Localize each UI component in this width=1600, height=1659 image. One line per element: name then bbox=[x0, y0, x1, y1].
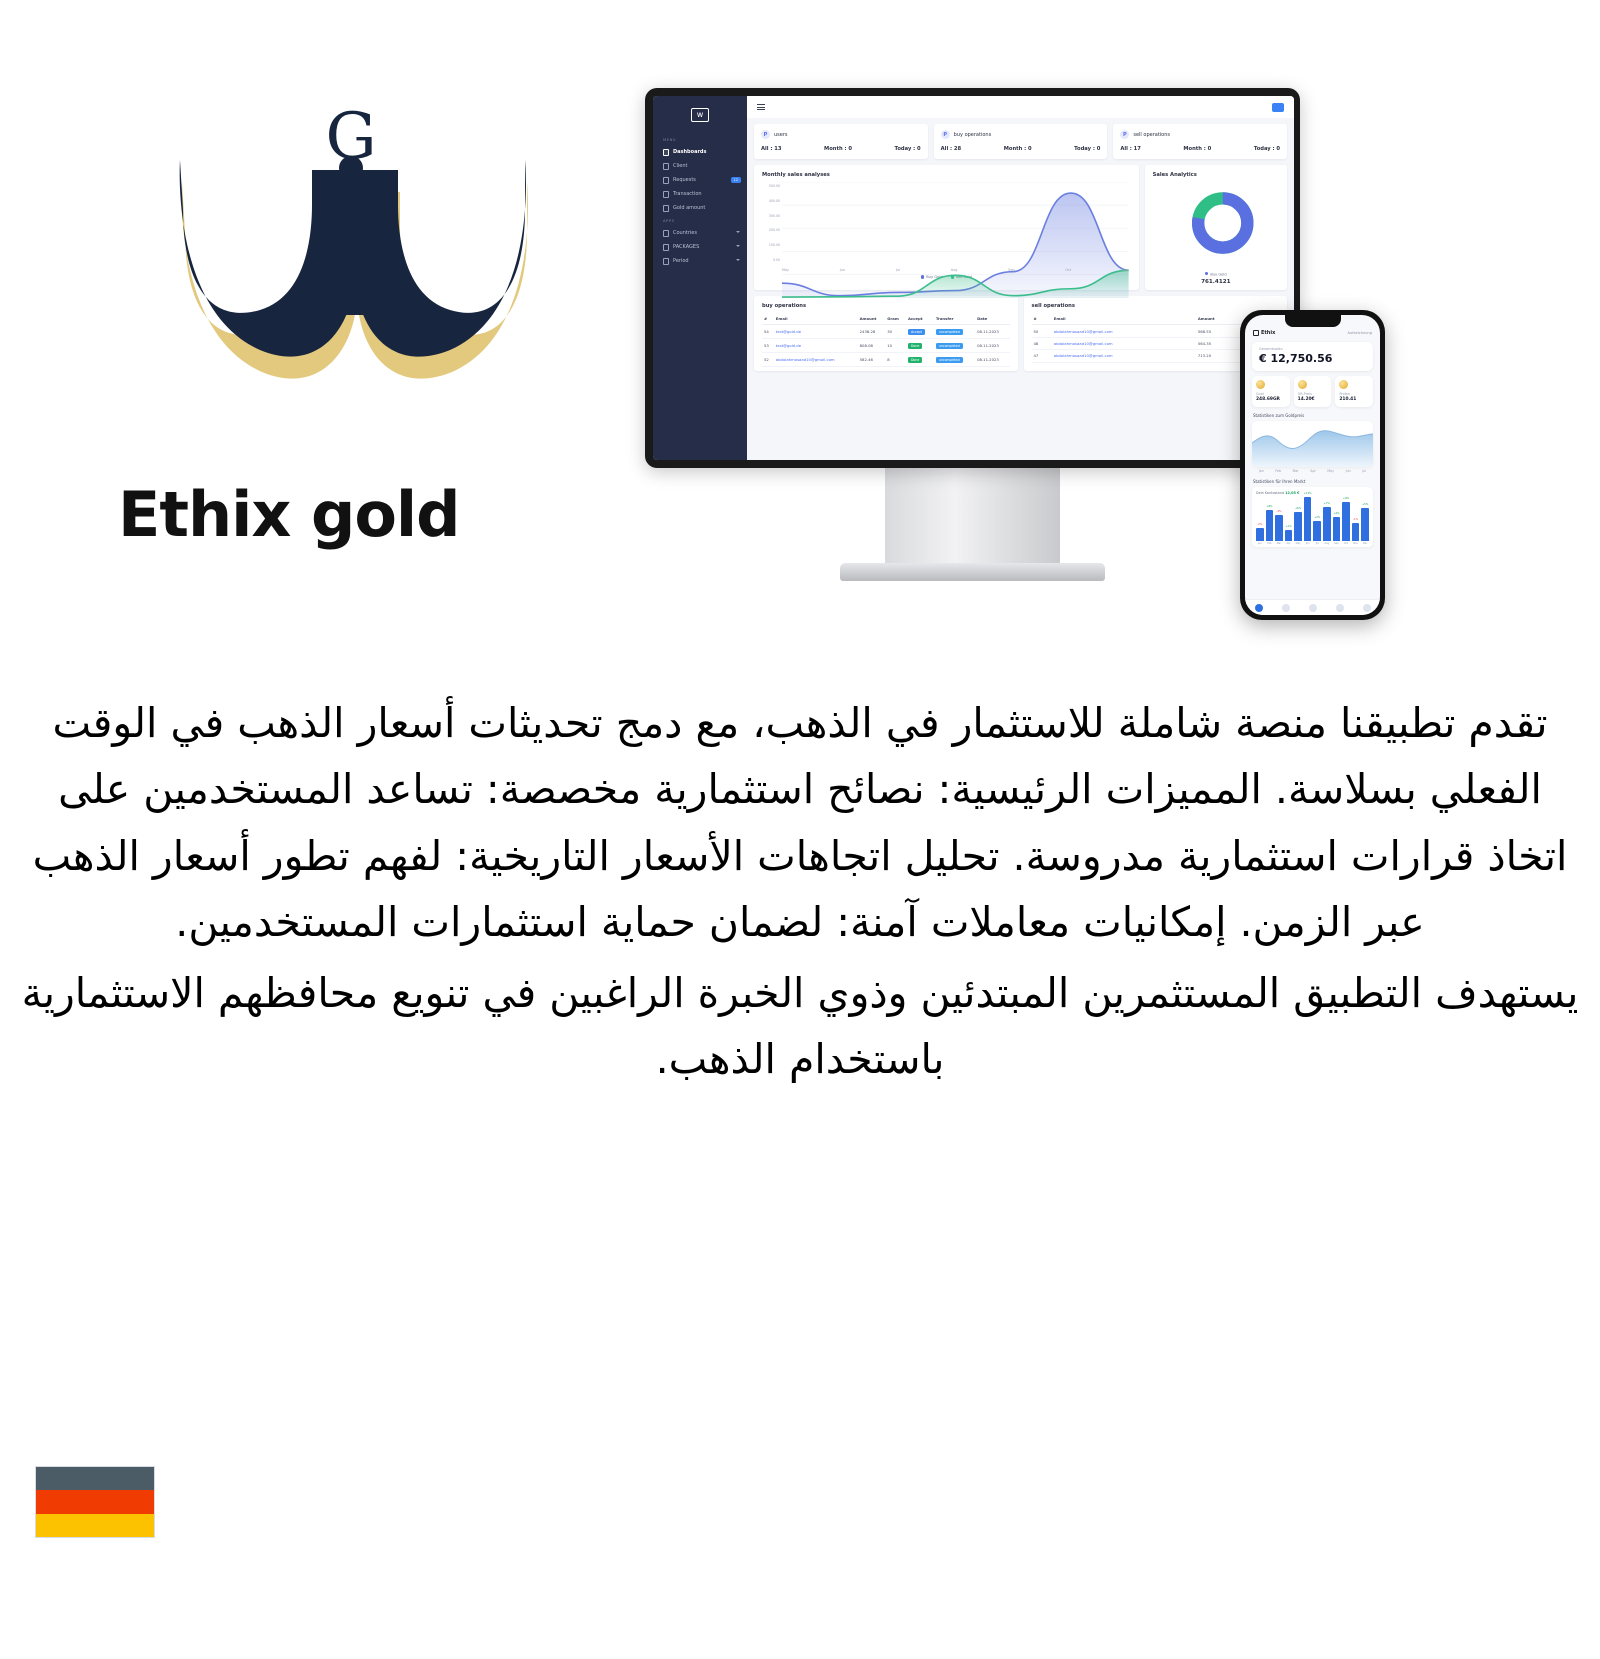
phone-bar-month: Dec bbox=[1361, 542, 1369, 545]
stat-card-users: P users All : 13 Month : 0 Today : 0 bbox=[754, 124, 928, 159]
sidebar-item-label: Period bbox=[673, 258, 689, 264]
transfer-status-badge[interactable]: uncompleted bbox=[936, 343, 963, 349]
cell-id: 52 bbox=[762, 353, 774, 367]
device-mockup: w MENU Dashboards Client Requests 12 bbox=[640, 80, 1440, 640]
cell-amount: 564.35 bbox=[1196, 337, 1244, 349]
phone-balance-chip: Dein Kontostand 12,05 € bbox=[1256, 491, 1369, 495]
cell-gram: 30 bbox=[885, 325, 906, 339]
sidebar-logo: w bbox=[691, 108, 709, 122]
sidebar-item-label: Client bbox=[673, 163, 687, 169]
cell-id: 47 bbox=[1032, 350, 1052, 362]
x-tick: May bbox=[782, 268, 789, 272]
phone-bar: +7% bbox=[1323, 507, 1331, 541]
chevron-down-icon bbox=[736, 231, 740, 233]
cell-date: 08.11.2023 bbox=[975, 339, 1009, 353]
requests-badge: 12 bbox=[731, 177, 741, 183]
mini-label: Profen bbox=[1339, 392, 1369, 396]
cell-amount: 808.08 bbox=[858, 339, 886, 353]
accept-status-badge[interactable]: Done bbox=[908, 357, 922, 363]
dashboard-body: P users All : 13 Month : 0 Today : 0 bbox=[747, 118, 1294, 377]
sidebar-item-label: Gold amount bbox=[673, 205, 705, 211]
tables-row: buy operations # Email Amount Gram Accep… bbox=[754, 296, 1287, 371]
x-tick: Oct bbox=[1065, 268, 1071, 272]
sidebar-item-label: PACKAGES bbox=[673, 244, 699, 250]
phone-bar-month: Nov bbox=[1352, 542, 1360, 545]
stat-today: Today : 0 bbox=[895, 146, 921, 152]
profile-icon[interactable] bbox=[1363, 604, 1371, 612]
balance-label: Gesamtsaldo bbox=[1259, 347, 1366, 351]
x-tick: Nov bbox=[1122, 268, 1129, 272]
dashboard-screen: w MENU Dashboards Client Requests 12 bbox=[653, 96, 1294, 460]
phone-month: Jan bbox=[1259, 469, 1264, 473]
col-date: Date bbox=[975, 313, 1009, 325]
cell-gram: 8 bbox=[885, 353, 906, 367]
stat-title: sell operations bbox=[1133, 132, 1170, 138]
cell-amount: 713.20 bbox=[1196, 350, 1244, 362]
phone-bottom-nav bbox=[1245, 599, 1380, 615]
pie-title: Sales Analytics bbox=[1153, 172, 1279, 178]
chart-area: 500.00 400.00 300.00 200.00 100.00 0.00 bbox=[762, 182, 1131, 274]
cell-amount: 582.46 bbox=[858, 353, 886, 367]
monthly-sales-chart-card: Monthly sales analyses 500.00 400.00 300… bbox=[754, 165, 1139, 290]
description-paragraph-1: تقدم تطبيقنا منصة شاملة للاستثمار في الذ… bbox=[20, 690, 1580, 956]
requests-icon bbox=[663, 177, 669, 184]
coin-icon bbox=[1339, 380, 1348, 389]
phone-bar-month: Jul bbox=[1313, 542, 1321, 545]
monitor-frame: w MENU Dashboards Client Requests 12 bbox=[645, 88, 1300, 468]
germany-flag bbox=[35, 1466, 155, 1538]
cell-date: 08.11.2023 bbox=[975, 325, 1009, 339]
table-row[interactable]: 53 test@gold.de 808.08 10 Done uncomplet… bbox=[762, 339, 1010, 353]
stat-today: Today : 0 bbox=[1074, 146, 1100, 152]
flag-stripe-top bbox=[36, 1467, 154, 1490]
phone-line-section-title: Statistiken zum Goldpreis bbox=[1253, 413, 1372, 418]
x-tick: Jul bbox=[896, 268, 900, 272]
cell-id: 53 bbox=[762, 339, 774, 353]
col-accept: Accept bbox=[906, 313, 934, 325]
description-paragraph-2: يستهدف التطبيق المستثمرين المبتدئين وذوي… bbox=[20, 960, 1580, 1093]
coin-icon bbox=[1256, 380, 1265, 389]
phone-bar-month: Feb bbox=[1266, 542, 1274, 545]
bell-icon[interactable] bbox=[1336, 604, 1344, 612]
sales-analytics-card: Sales Analytics Buy Gold 761.4121 bbox=[1145, 165, 1287, 290]
phone-bar: +2% bbox=[1313, 521, 1321, 541]
phone-month: Feb bbox=[1275, 469, 1281, 473]
phone-bar: +8% bbox=[1266, 510, 1274, 541]
chip-label: Dein Kontostand bbox=[1256, 491, 1284, 495]
y-tick: 0.00 bbox=[762, 258, 780, 262]
sidebar-section-menu: MENU bbox=[653, 134, 747, 145]
phone-bar: +11% bbox=[1304, 497, 1312, 541]
countries-icon bbox=[663, 230, 669, 237]
flag-stripe-middle bbox=[36, 1490, 154, 1513]
table-row[interactable]: 54 test@gold.de 2438.28 30 Accept uncomp… bbox=[762, 325, 1010, 339]
phone-bar: +5% bbox=[1361, 508, 1369, 541]
dashboard-sidebar: w MENU Dashboards Client Requests 12 bbox=[653, 96, 747, 460]
sidebar-item-gold-amount[interactable]: Gold amount bbox=[653, 201, 747, 215]
phone-bar-month: May bbox=[1294, 542, 1302, 545]
donut-total: 761.4121 bbox=[1153, 279, 1279, 285]
table-title: buy operations bbox=[762, 303, 1010, 309]
mini-label: Gold bbox=[1256, 392, 1286, 396]
logo-svg: G bbox=[120, 110, 580, 400]
cell-id: 48 bbox=[1032, 337, 1052, 349]
table-row[interactable]: 52 abdolahmosaad10@gmail.com 582.46 8 Do… bbox=[762, 353, 1010, 367]
phone-bar-month: Aug bbox=[1323, 542, 1331, 545]
y-tick: 200.00 bbox=[762, 228, 780, 232]
phone-bar-months: JanFebMarAprMayJunJulAugSepOctNovDec bbox=[1256, 542, 1369, 545]
stat-all: All : 17 bbox=[1120, 146, 1140, 152]
chart-y-axis: 500.00 400.00 300.00 200.00 100.00 0.00 bbox=[762, 184, 780, 262]
stat-title: buy operations bbox=[954, 132, 992, 138]
sidebar-item-requests[interactable]: Requests 12 bbox=[653, 173, 747, 187]
phone-bar-month: Mar bbox=[1275, 542, 1283, 545]
x-tick: Sep bbox=[1008, 268, 1014, 272]
x-tick: Jun bbox=[840, 268, 845, 272]
chip-value: 12,05 € bbox=[1285, 491, 1299, 495]
y-tick: 100.00 bbox=[762, 243, 780, 247]
sell-stat-icon: P bbox=[1120, 130, 1129, 139]
cell-amount: 2438.28 bbox=[858, 325, 886, 339]
phone-line-months: JanFebMarAprMayJunJul bbox=[1253, 469, 1372, 473]
mini-value: 248.69GR bbox=[1256, 397, 1286, 402]
phone-app-name: Ethix bbox=[1261, 330, 1275, 336]
phone-month: May bbox=[1327, 469, 1334, 473]
mini-label: GR-Preis bbox=[1298, 392, 1328, 396]
y-tick: 500.00 bbox=[762, 184, 780, 188]
phone-bar: -3% bbox=[1275, 515, 1283, 541]
table-title: sell operations bbox=[1032, 303, 1280, 309]
phone-bar: +4% bbox=[1333, 517, 1341, 541]
col-email: Email bbox=[774, 313, 858, 325]
stat-month: Month : 0 bbox=[1183, 146, 1211, 152]
transfer-status-badge[interactable]: uncompleted bbox=[936, 357, 963, 363]
cell-gram: 10 bbox=[885, 339, 906, 353]
balance-value: € 12,750.56 bbox=[1259, 352, 1366, 365]
phone-line-chart bbox=[1252, 421, 1373, 467]
col-id: # bbox=[762, 313, 774, 325]
phone-app-brand: Ethix bbox=[1253, 330, 1275, 336]
sidebar-item-dashboards[interactable]: Dashboards bbox=[653, 145, 747, 159]
y-tick: 400.00 bbox=[762, 199, 780, 203]
sidebar-item-label: Transaction bbox=[673, 191, 702, 197]
cell-email[interactable]: abdolahmosaad10@gmail.com bbox=[1052, 337, 1196, 349]
dashboard-icon bbox=[663, 149, 669, 156]
phone-mockup: Ethix Aufzeichnung Gesamtsaldo € 12,750.… bbox=[1240, 310, 1385, 620]
phone-bar: -2% bbox=[1256, 528, 1264, 541]
accept-status-badge[interactable]: Done bbox=[908, 343, 922, 349]
phone-month: Apr bbox=[1310, 469, 1316, 473]
description-text: تقدم تطبيقنا منصة شاملة للاستثمار في الذ… bbox=[20, 690, 1580, 1096]
cell-amount: 568.55 bbox=[1196, 325, 1244, 337]
chevron-down-icon bbox=[736, 245, 740, 247]
stat-month: Month : 0 bbox=[824, 146, 852, 152]
phone-bar-month: Sep bbox=[1333, 542, 1341, 545]
cell-email[interactable]: abdolahmosaad10@gmail.com bbox=[1052, 325, 1196, 337]
charts-row: Monthly sales analyses 500.00 400.00 300… bbox=[754, 165, 1287, 290]
sidebar-item-label: Countries bbox=[673, 230, 697, 236]
buy-operations-table: # Email Amount Gram Accept Transfer Date bbox=[762, 313, 1010, 367]
stat-title: users bbox=[774, 132, 788, 138]
sidebar-item-period[interactable]: Period bbox=[653, 254, 747, 268]
mini-value: 14.20€ bbox=[1298, 397, 1328, 402]
gold-amount-icon bbox=[663, 205, 669, 212]
logo-g-letter: G bbox=[325, 110, 376, 174]
user-stat-icon: P bbox=[761, 130, 770, 139]
col-transfer: Transfer bbox=[934, 313, 975, 325]
sidebar-item-transaction[interactable]: Transaction bbox=[653, 187, 747, 201]
sidebar-item-countries[interactable]: Countries bbox=[653, 226, 747, 240]
col-email: Email bbox=[1052, 313, 1196, 325]
phone-bar: -1% bbox=[1352, 523, 1360, 541]
cell-email[interactable]: test@gold.de bbox=[774, 325, 858, 339]
phone-balance-card: Gesamtsaldo € 12,750.56 bbox=[1252, 342, 1373, 371]
sidebar-item-label: Requests bbox=[673, 177, 696, 183]
stat-card-sell-operations: P sell operations All : 17 Month : 0 Tod… bbox=[1113, 124, 1287, 159]
sidebar-item-client[interactable]: Client bbox=[653, 159, 747, 173]
mini-card-profen[interactable]: Profen 210.41 bbox=[1335, 376, 1373, 407]
mini-card-gr-preis[interactable]: GR-Preis 14.20€ bbox=[1294, 376, 1332, 407]
phone-bar-chart-card: Dein Kontostand 12,05 € -2%+8%-3%+1%+6%+… bbox=[1252, 487, 1373, 547]
stat-card-row: P users All : 13 Month : 0 Today : 0 bbox=[754, 124, 1287, 159]
cell-email[interactable]: abdolahmosaad10@gmail.com bbox=[1052, 350, 1196, 362]
phone-bar-month: Jun bbox=[1304, 542, 1312, 545]
sidebar-item-label: Dashboards bbox=[673, 149, 706, 155]
accept-button[interactable]: Accept bbox=[908, 329, 925, 335]
phone-line-chart-svg bbox=[1252, 421, 1373, 467]
cell-id: 54 bbox=[762, 325, 774, 339]
stat-today: Today : 0 bbox=[1254, 146, 1280, 152]
flag-stripe-bottom bbox=[36, 1514, 154, 1537]
topbar-account-chip[interactable] bbox=[1272, 103, 1284, 112]
phone-bar: +9% bbox=[1342, 502, 1350, 541]
client-icon bbox=[663, 163, 669, 170]
coin-icon bbox=[1298, 380, 1307, 389]
mini-value: 210.41 bbox=[1339, 397, 1369, 402]
chart-plot bbox=[782, 182, 1129, 298]
phone-bars: -2%+8%-3%+1%+6%+11%+2%+7%+4%+9%-1%+5% bbox=[1256, 497, 1369, 541]
stat-all: All : 13 bbox=[761, 146, 781, 152]
col-amount: Amount bbox=[858, 313, 886, 325]
table-header-row: # Email Amount Gram Accept Transfer Date bbox=[762, 313, 1010, 325]
donut-chart bbox=[1153, 182, 1279, 264]
phone-header-link[interactable]: Aufzeichnung bbox=[1348, 331, 1372, 335]
dashboard-topbar bbox=[747, 96, 1294, 118]
transfer-status-badge[interactable]: uncompleted bbox=[936, 329, 963, 335]
col-amount: Amount bbox=[1196, 313, 1244, 325]
transaction-icon bbox=[663, 191, 669, 198]
stat-all: All : 28 bbox=[941, 146, 961, 152]
stat-card-buy-operations: P buy operations All : 28 Month : 0 Toda… bbox=[934, 124, 1108, 159]
phone-bar-month: Oct bbox=[1342, 542, 1350, 545]
dashboard-main: P users All : 13 Month : 0 Today : 0 bbox=[747, 96, 1294, 460]
phone-screen: Ethix Aufzeichnung Gesamtsaldo € 12,750.… bbox=[1245, 315, 1380, 615]
wallet-icon[interactable] bbox=[1282, 604, 1290, 612]
monitor-stand-base bbox=[840, 563, 1105, 581]
col-gram: Gram bbox=[885, 313, 906, 325]
packages-icon bbox=[663, 244, 669, 251]
cell-email[interactable]: abdolahmosaad10@gmail.com bbox=[774, 353, 858, 367]
chart-x-axis: MayJunJulAugSepOctNov bbox=[782, 268, 1129, 272]
app-logo-icon bbox=[1253, 330, 1259, 336]
cell-id: 50 bbox=[1032, 325, 1052, 337]
page-title: Ethix gold bbox=[118, 478, 460, 551]
buy-stat-icon: P bbox=[941, 130, 950, 139]
chevron-down-icon bbox=[736, 259, 740, 261]
donut-legend: Buy Gold bbox=[1153, 272, 1279, 276]
mini-card-gold[interactable]: Gold 248.69GR bbox=[1252, 376, 1290, 407]
hamburger-icon[interactable] bbox=[757, 104, 765, 110]
monitor-stand-neck bbox=[885, 468, 1060, 563]
stat-month: Month : 0 bbox=[1004, 146, 1032, 152]
cell-date: 08.11.2023 bbox=[975, 353, 1009, 367]
chart-title: Monthly sales analyses bbox=[762, 172, 1131, 178]
phone-bar-month: Apr bbox=[1285, 542, 1293, 545]
phone-month: Jun bbox=[1346, 469, 1351, 473]
phone-notch bbox=[1285, 315, 1341, 327]
home-icon[interactable] bbox=[1255, 604, 1263, 612]
phone-bar-month: Jan bbox=[1256, 542, 1264, 545]
sidebar-section-apps: APPS bbox=[653, 215, 747, 226]
cell-email[interactable]: test@gold.de bbox=[774, 339, 858, 353]
phone-bar: +6% bbox=[1294, 512, 1302, 541]
col-id: # bbox=[1032, 313, 1052, 325]
period-icon bbox=[663, 258, 669, 265]
phone-bar: +1% bbox=[1285, 530, 1293, 541]
cart-icon[interactable] bbox=[1309, 604, 1317, 612]
x-tick: Aug bbox=[951, 268, 958, 272]
phone-month: Mar bbox=[1293, 469, 1299, 473]
buy-operations-table-card: buy operations # Email Amount Gram Accep… bbox=[754, 296, 1018, 371]
phone-mini-cards: Gold 248.69GR GR-Preis 14.20€ Profen 210… bbox=[1252, 376, 1373, 407]
sidebar-item-packages[interactable]: PACKAGES bbox=[653, 240, 747, 254]
phone-month: Jul bbox=[1362, 469, 1366, 473]
y-tick: 300.00 bbox=[762, 214, 780, 218]
phone-bar-section-title: Statistiken für Ihren Markt bbox=[1253, 479, 1372, 484]
brand-logo: G bbox=[120, 110, 580, 400]
